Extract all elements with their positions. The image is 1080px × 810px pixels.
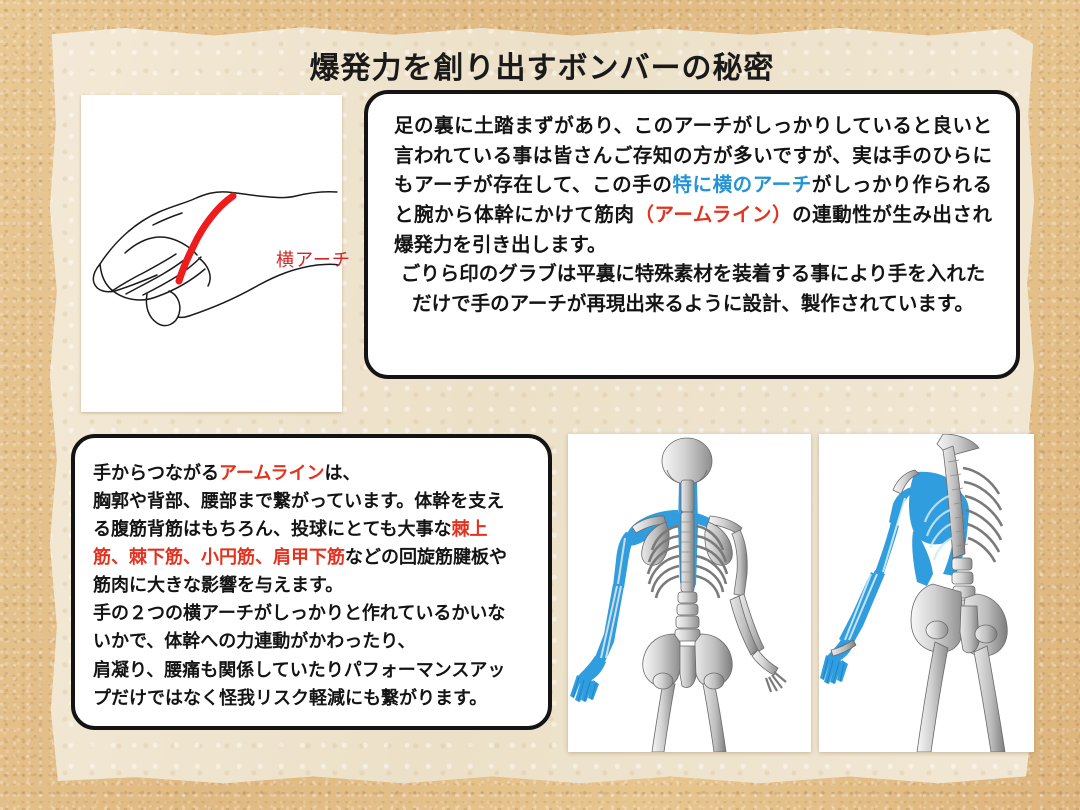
text-run-normal: などの回旋筋腱板や <box>345 547 507 567</box>
text-run-normal: 筋肉に大きな影響を与えます。 <box>93 575 343 595</box>
oblique-skeleton-svg <box>819 434 1034 752</box>
text-run-normal: 胸郭や背部、腰部まで繋がっています。体幹を支え <box>93 491 504 511</box>
skeleton-panel-oblique <box>819 434 1034 752</box>
text-run-blue: 特に横のアーチ <box>672 174 811 196</box>
arm-line-text-row: 肩凝り、腰痛も関係していたりパフォーマンスアッ <box>93 656 534 684</box>
arm-line-text-row: 筋肉に大きな影響を与えます。 <box>93 571 534 599</box>
arm-line-text-row: いかで、体幹への力連動がかわったり、 <box>93 627 534 655</box>
transverse-arch-curve <box>179 196 233 281</box>
text-run-normal: プだけではなく怪我リスク軽減にも繋がります。 <box>93 688 487 708</box>
text-run-red: 筋、棘下筋、小円筋、肩甲下筋 <box>93 547 345 567</box>
text-run-red: アームライン <box>219 463 324 483</box>
text-run-normal: る腹筋背筋はもちろん、投球にとても大事な <box>93 519 452 539</box>
arm-line-text-row: 手の２つの横アーチがしっかりと作れているかいな <box>93 599 534 627</box>
main-description-text: 足の裏に土踏まずがあり、このアーチがしっかりしていると良いと言われている事は皆さ… <box>368 94 1016 319</box>
page-title: 爆発力を創り出すボンバーの秘密 <box>46 43 1038 87</box>
main-paragraph-2: ごりら印のグラブは平裏に特殊素材を装着する事により手を入れただけで手のアーチが再… <box>394 260 992 319</box>
arm-line-bubble: 手からつながるアームラインは、胸郭や背部、腰部まで繋がっています。体幹を支える腹… <box>71 434 552 730</box>
text-run-normal: ごりら印のグラブは平裏に特殊素材を装着する事により手を入れただけで手のアーチが再… <box>401 263 986 315</box>
main-description-bubble: 足の裏に土踏まずがあり、このアーチがしっかりしていると良いと言われている事は皆さ… <box>364 90 1020 379</box>
text-run-red: （アームライン） <box>635 204 793 226</box>
skeleton-panel-posterior <box>568 434 811 752</box>
arm-line-text-row: 手からつながるアームラインは、 <box>93 459 534 487</box>
arch-label: 横アーチ <box>276 246 351 272</box>
arm-line-text-row: 筋、棘下筋、小円筋、肩甲下筋などの回旋筋腱板や <box>93 543 534 571</box>
text-run-normal: 手からつながる <box>93 463 219 483</box>
text-run-red: 棘上 <box>452 519 488 539</box>
arm-line-text-row: 胸郭や背部、腰部まで繋がっています。体幹を支え <box>93 487 534 515</box>
arm-line-text: 手からつながるアームラインは、胸郭や背部、腰部まで繋がっています。体幹を支える腹… <box>75 438 548 712</box>
text-run-normal: 肩凝り、腰痛も関係していたりパフォーマンスアッ <box>93 660 505 680</box>
text-run-normal: いかで、体幹への力連動がかわったり、 <box>93 631 416 651</box>
arm-line-text-row: る腹筋背筋はもちろん、投球にとても大事な棘上 <box>93 515 534 543</box>
posterior-skeleton-svg <box>568 434 811 752</box>
text-run-normal: 手の２つの横アーチがしっかりと作れているかいな <box>93 603 505 623</box>
arm-line-text-row: プだけではなく怪我リスク軽減にも繋がります。 <box>93 684 534 712</box>
hand-illustration-panel: 横アーチ <box>81 95 342 412</box>
text-run-normal: は、 <box>324 463 360 483</box>
main-paragraph-1: 足の裏に土踏まずがあり、このアーチがしっかりしていると良いと言われている事は皆さ… <box>394 112 992 260</box>
